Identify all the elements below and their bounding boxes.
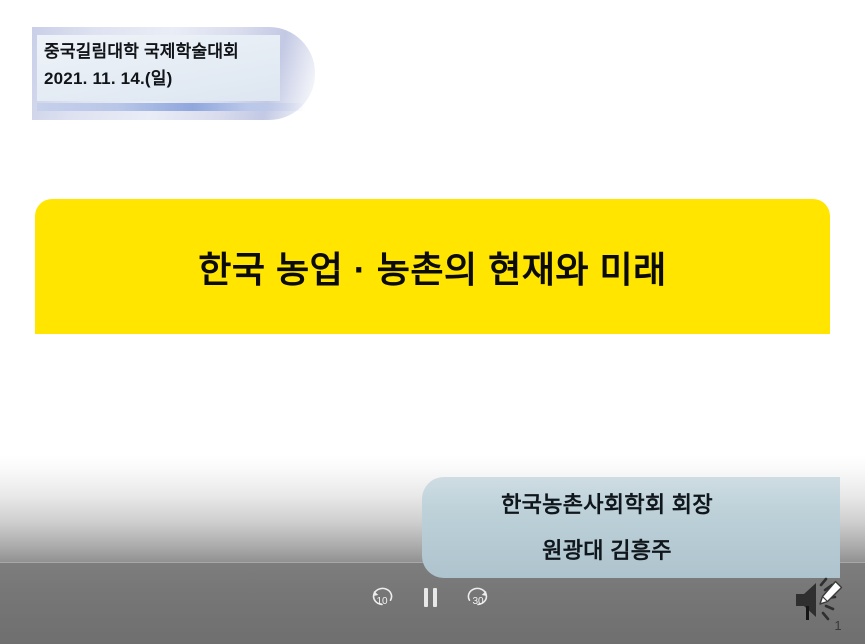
volume-button[interactable] (790, 576, 852, 624)
presenter-affiliation: 한국농촌사회학회 회장 (501, 482, 713, 528)
presenter-credit-box: 한국농촌사회학회 회장 원광대 김흥주 (422, 477, 840, 578)
event-header-badge: 중국길림대학 국제학술대회 2021. 11. 14.(일) (32, 27, 315, 120)
rewind-10-icon (369, 587, 395, 607)
slide-title-text: 한국 농업 · 농촌의 현재와 미래 (198, 241, 666, 293)
badge-accent-bar (37, 103, 305, 111)
volume-icon (790, 576, 852, 624)
transport-controls: 10 30 (365, 580, 495, 614)
event-name-line: 중국길림대학 국제학술대회 (44, 38, 304, 65)
slide-number: 1 (826, 618, 850, 634)
event-date-line: 2021. 11. 14.(일) (44, 65, 304, 92)
slide-title-banner: 한국 농업 · 농촌의 현재와 미래 (35, 199, 830, 334)
pause-icon (424, 588, 437, 607)
forward-30-icon (465, 587, 491, 607)
presentation-video-player[interactable]: 중국길림대학 국제학술대회 2021. 11. 14.(일) 한국 농업 · 농… (0, 0, 865, 644)
presenter-name: 원광대 김흥주 (542, 528, 672, 574)
event-header-text: 중국길림대학 국제학술대회 2021. 11. 14.(일) (44, 38, 304, 92)
pause-button[interactable] (413, 580, 447, 614)
forward-30-button[interactable]: 30 (461, 580, 495, 614)
rewind-10-button[interactable]: 10 (365, 580, 399, 614)
